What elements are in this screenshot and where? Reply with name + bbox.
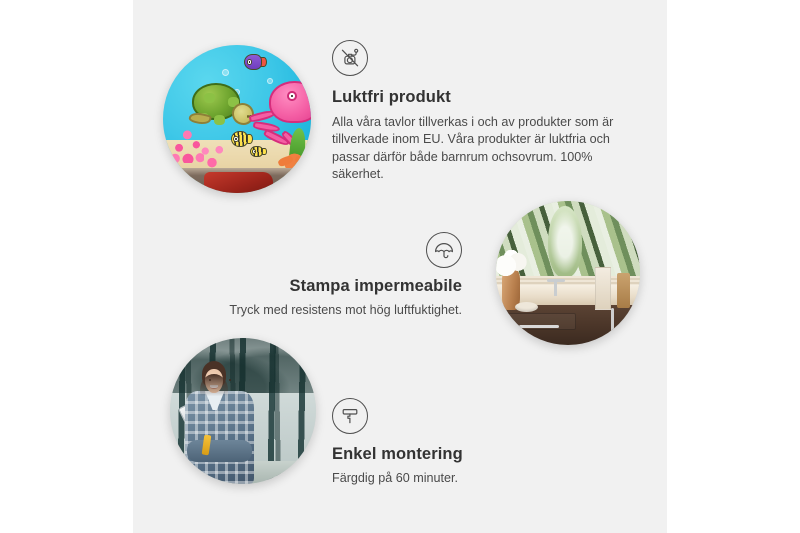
fish-eye [252, 149, 256, 153]
umbrella-icon [426, 232, 462, 268]
feature-description: Tryck med resistens mot hög luftfuktighe… [190, 302, 462, 319]
childrens-room-furniture-layer [163, 168, 311, 193]
pink-coral-graphic [199, 137, 226, 170]
feature-description: Alla våra tavlor tillverkas i och av pro… [332, 114, 622, 184]
product-feature-infographic: Luktfri produkt Alla våra tavlor tillver… [0, 0, 800, 533]
white-flowers-graphic [496, 250, 528, 276]
feature-odour-free: Luktfri produkt Alla våra tavlor tillver… [332, 40, 622, 184]
yellow-striped-fish-graphic [250, 146, 266, 158]
soap-dish-graphic [515, 302, 538, 312]
icon-row [190, 232, 462, 268]
purple-fish-graphic [244, 54, 266, 70]
octopus-eye [287, 91, 296, 101]
octopus-body [269, 81, 311, 123]
folded-arms [187, 440, 252, 462]
no-fragrance-icon [332, 40, 368, 76]
sea-turtle-graphic [187, 83, 252, 130]
bathroom-leaf-wallpaper-circle [496, 201, 640, 345]
drawer-handle [519, 325, 559, 328]
feature-title: Luktfri produkt [332, 88, 622, 107]
feature-waterproof-print: Stampa impermeabile Tryck med resistens … [190, 232, 462, 319]
feature-description: Färgdig på 60 minuter. [332, 470, 612, 487]
woman-figure [179, 361, 261, 484]
candle-graphic [617, 273, 630, 308]
feature-title: Stampa impermeabile [190, 277, 462, 296]
bubble-icon [222, 69, 229, 76]
fish-eye [233, 136, 239, 142]
feature-easy-assembly: Enkel montering Färgdig på 60 minuter. [332, 398, 612, 487]
feature-title: Enkel montering [332, 445, 612, 464]
cabinet-door-handle [611, 308, 614, 337]
woman-paint-roller-forest-circle [170, 338, 316, 484]
faucet-graphic [554, 279, 557, 296]
soap-dispenser-graphic [595, 267, 611, 309]
cartoon-underwater-scene-circle [163, 45, 311, 193]
hair-side [200, 374, 228, 406]
plaid-shirt [185, 391, 254, 484]
paint-roller-icon [332, 398, 368, 434]
